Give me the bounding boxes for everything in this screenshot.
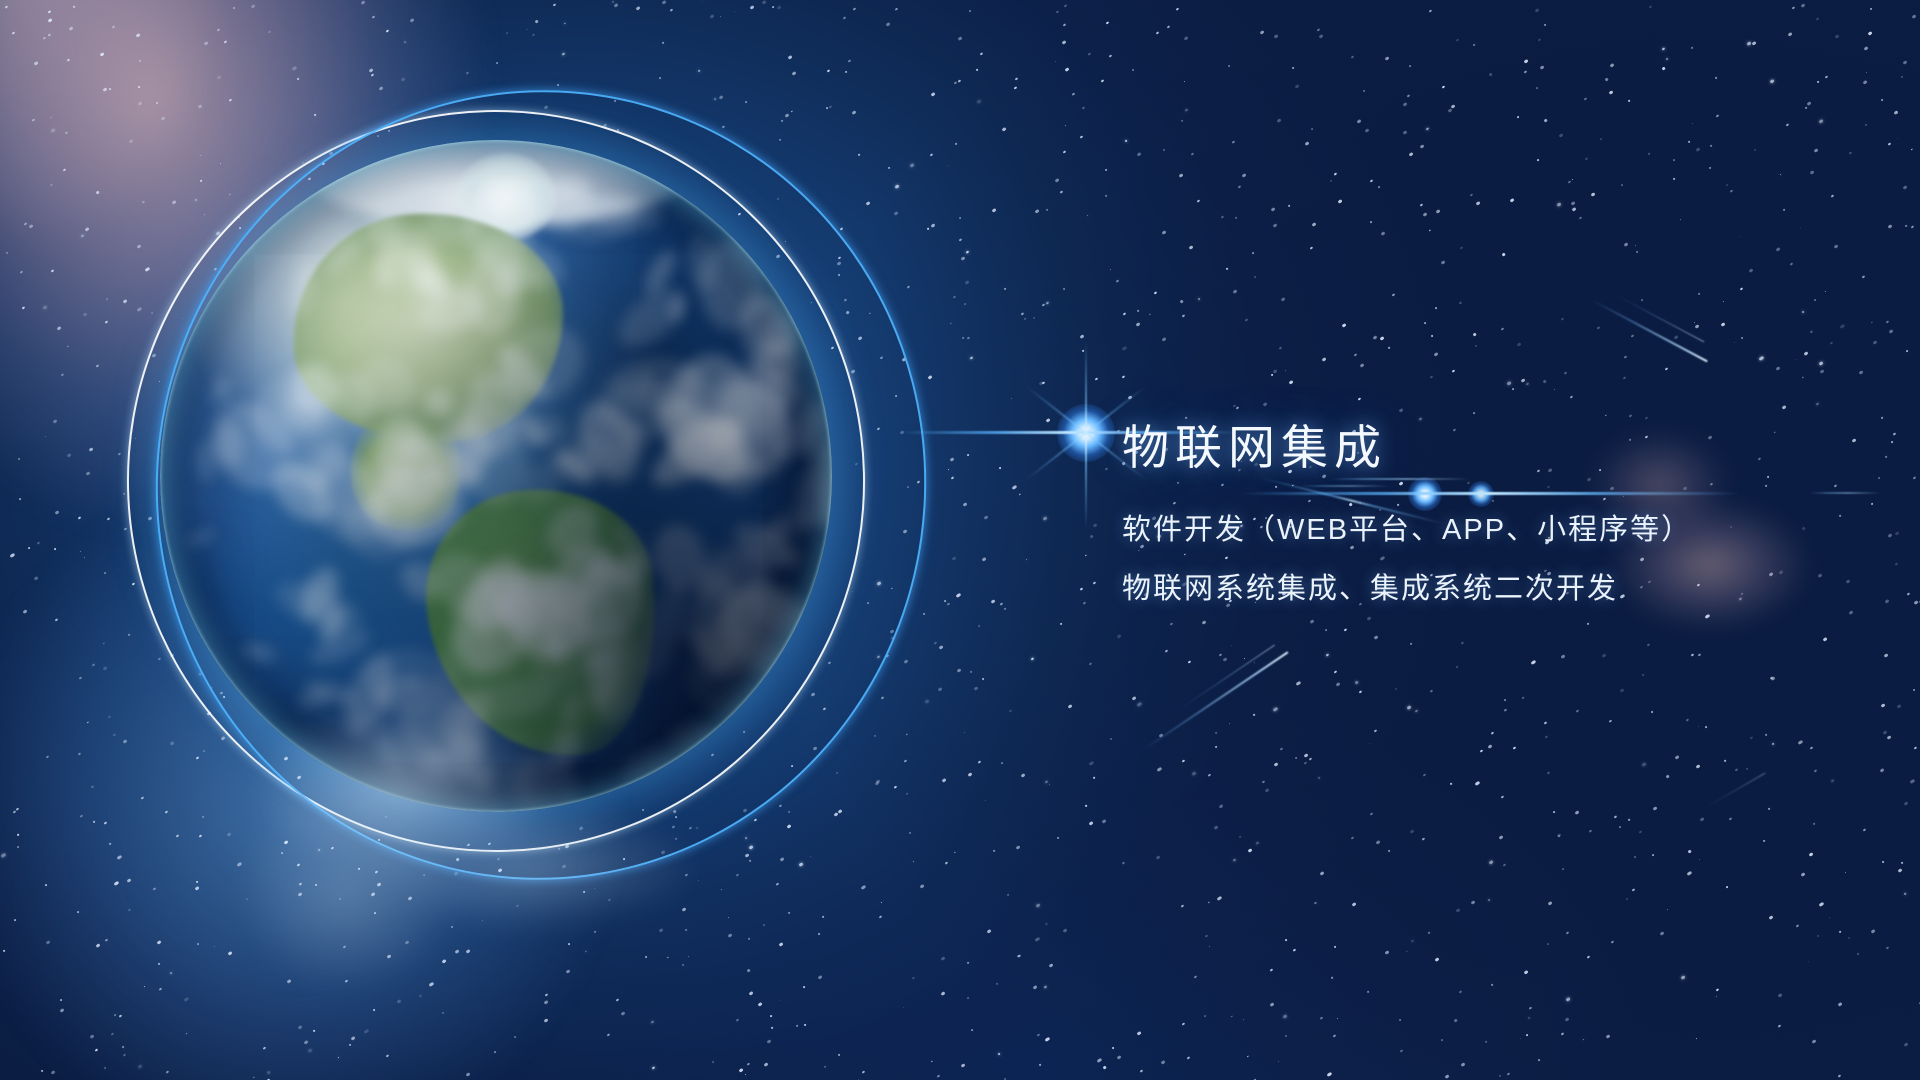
banner-subtitle-2: 物联网系统集成、集成系统二次开发 [1122, 575, 1862, 604]
cloud-reflection [180, 690, 740, 1010]
page-title: 物联网集成 [1122, 424, 1862, 471]
banner-copy: 物联网集成 软件开发（WEB平台、APP、小程序等） 物联网系统集成、集成系统二… [1122, 424, 1862, 604]
hero-banner: 物联网集成 软件开发（WEB平台、APP、小程序等） 物联网系统集成、集成系统二… [0, 0, 1920, 1080]
banner-subtitle-1: 软件开发（WEB平台、APP、小程序等） [1122, 516, 1862, 545]
